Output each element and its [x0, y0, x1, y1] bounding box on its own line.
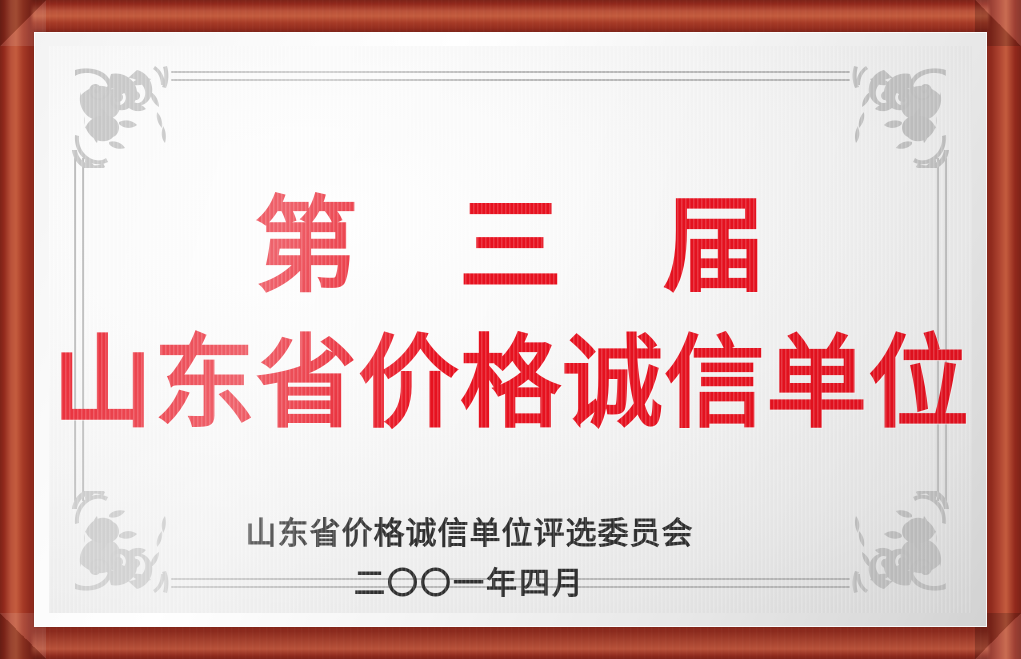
plaque-title-line: 第 三 届: [49, 194, 972, 298]
plaque-main-award-line: 山东省价格诚信单位: [49, 333, 972, 434]
issuing-organization: 山东省价格诚信单位评选委员会: [49, 514, 890, 556]
plate-outer-margin: 第 三 届 山东省价格诚信单位 山东省价格诚信单位评选委员会 二〇〇一年四月: [34, 32, 987, 627]
award-plaque: 第 三 届 山东省价格诚信单位 山东省价格诚信单位评选委员会 二〇〇一年四月: [0, 0, 1021, 659]
plaque-content: 第 三 届 山东省价格诚信单位 山东省价格诚信单位评选委员会 二〇〇一年四月: [49, 46, 972, 613]
issue-date: 二〇〇一年四月: [49, 564, 890, 606]
plate-inner-surface: 第 三 届 山东省价格诚信单位 山东省价格诚信单位评选委员会 二〇〇一年四月: [49, 46, 972, 613]
plaque-signature-block: 山东省价格诚信单位评选委员会 二〇〇一年四月: [49, 514, 890, 606]
